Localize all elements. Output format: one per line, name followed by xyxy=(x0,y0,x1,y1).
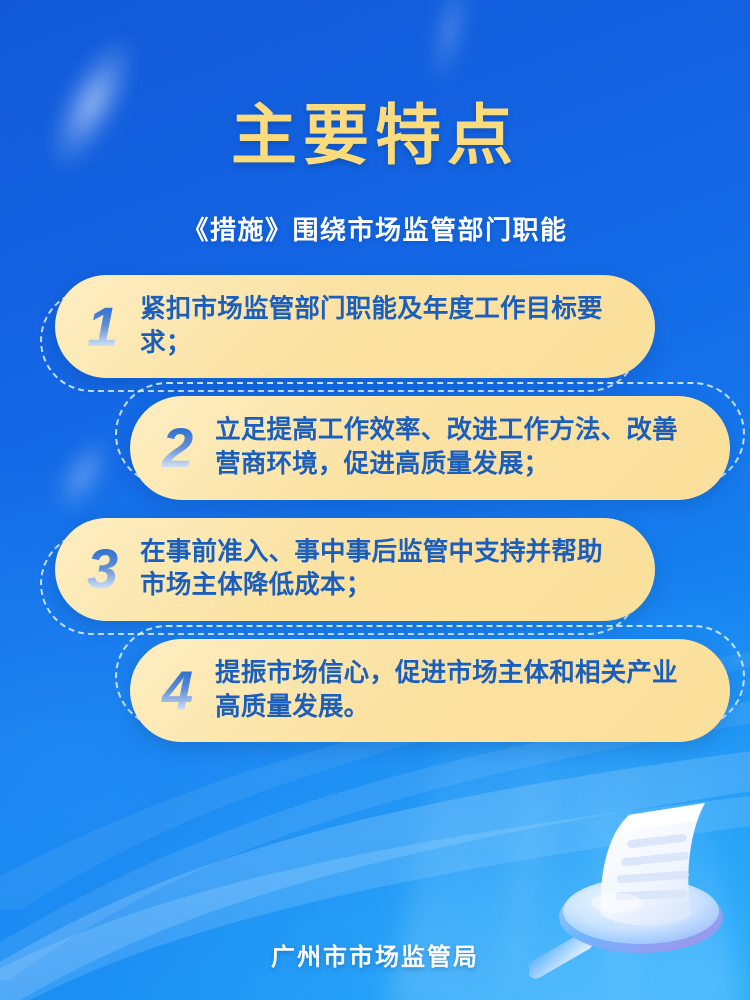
feature-pill-4[interactable]: 4 提振市场信心，促进市场主体和相关产业高质量发展。 xyxy=(130,639,730,742)
list-item: 1 紧扣市场监管部门职能及年度工作目标要求； xyxy=(0,275,750,378)
item-text: 立足提高工作效率、改进工作方法、改善营商环境，促进高质量发展； xyxy=(215,414,696,481)
list-item: 2 立足提高工作效率、改进工作方法、改善营商环境，促进高质量发展； xyxy=(0,396,750,499)
feature-pill-2[interactable]: 2 立足提高工作效率、改进工作方法、改善营商环境，促进高质量发展； xyxy=(130,396,730,499)
feature-pill-1[interactable]: 1 紧扣市场监管部门职能及年度工作目标要求； xyxy=(55,275,655,378)
list-item: 3 在事前准入、事中事后监管中支持并帮助市场主体降低成本； xyxy=(0,518,750,621)
item-number: 4 xyxy=(158,663,199,719)
feature-list: 1 紧扣市场监管部门职能及年度工作目标要求； 2 立足提高工作效率、改进工作方法… xyxy=(0,275,750,760)
poster-root: 主要特点 《措施》围绕市场监管部门职能 1 紧扣市场监管部门职能及年度工作目标要… xyxy=(0,0,750,1000)
feature-pill-3[interactable]: 3 在事前准入、事中事后监管中支持并帮助市场主体降低成本； xyxy=(55,518,655,621)
footer-organization: 广州市市场监管局 xyxy=(0,937,750,972)
item-text: 提振市场信心，促进市场主体和相关产业高质量发展。 xyxy=(215,657,696,724)
item-number: 1 xyxy=(83,299,124,355)
page-subtitle: 《措施》围绕市场监管部门职能 xyxy=(0,210,750,247)
header: 主要特点 《措施》围绕市场监管部门职能 xyxy=(0,0,750,247)
item-number: 3 xyxy=(83,541,124,597)
item-text: 在事前准入、事中事后监管中支持并帮助市场主体降低成本； xyxy=(140,536,621,603)
item-number: 2 xyxy=(158,420,199,476)
list-item: 4 提振市场信心，促进市场主体和相关产业高质量发展。 xyxy=(0,639,750,742)
item-text: 紧扣市场监管部门职能及年度工作目标要求； xyxy=(140,293,621,360)
page-title: 主要特点 xyxy=(0,82,750,178)
